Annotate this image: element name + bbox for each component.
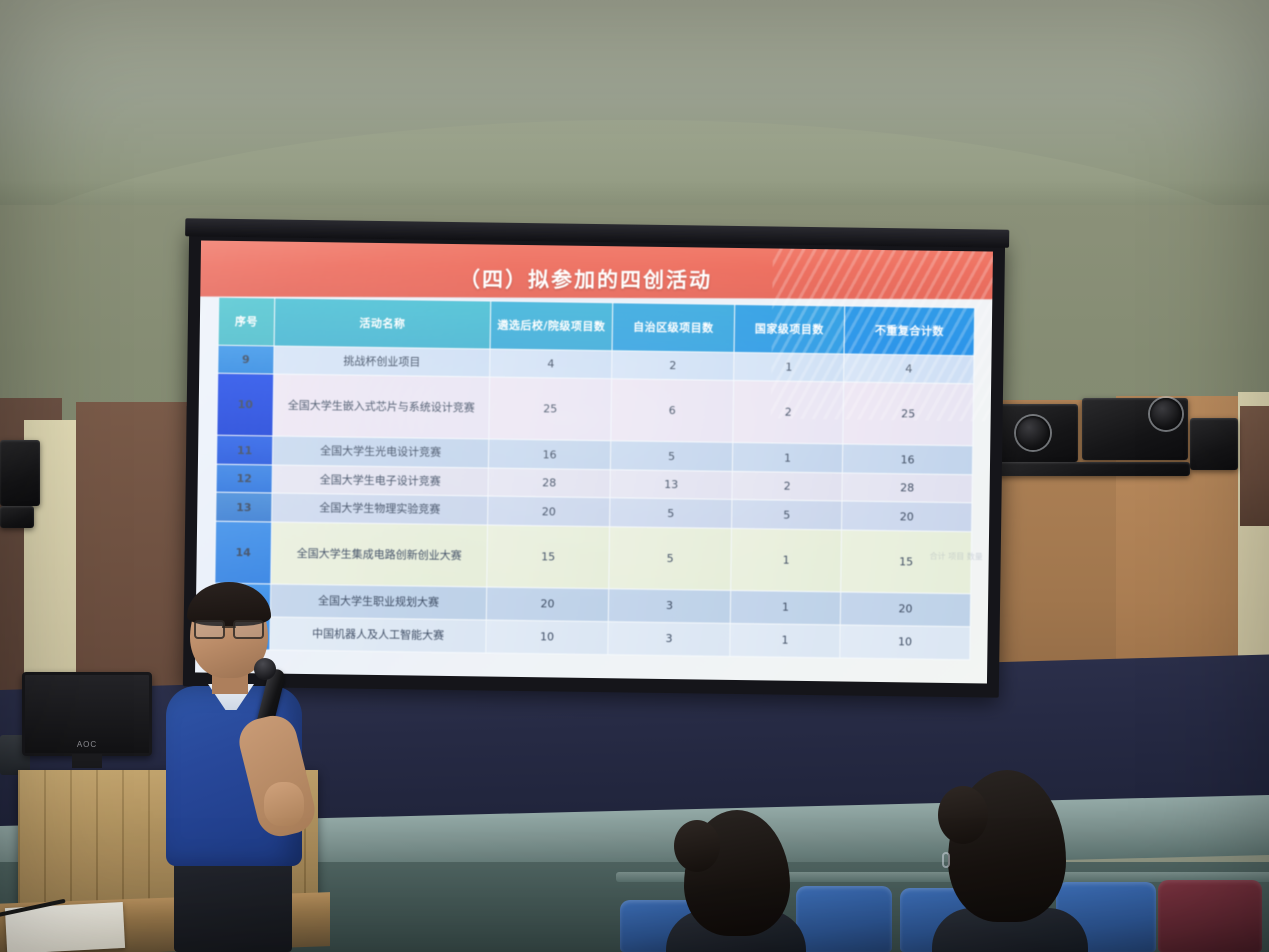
presenter <box>160 586 330 952</box>
cell-index: 11 <box>216 436 272 465</box>
cell-total: 20 <box>840 592 970 627</box>
monitor-stand <box>72 754 102 768</box>
cell-name: 全国大学生光电设计竞赛 <box>272 436 488 467</box>
cell-total: 20 <box>842 501 972 531</box>
seat-red-1 <box>1158 880 1262 952</box>
cell-national: 2 <box>732 471 842 501</box>
presenter-trousers <box>174 858 292 952</box>
cell-region: 5 <box>610 498 732 528</box>
col-header-name: 活动名称 <box>274 298 491 349</box>
col-header-national: 国家级项目数 <box>734 304 845 354</box>
cell-region: 5 <box>610 441 732 471</box>
wall-panel-right-far <box>1240 406 1269 526</box>
presenter-hand <box>264 782 304 826</box>
cell-school: 25 <box>489 377 612 441</box>
cell-name: 全国大学生集成电路创新创业大赛 <box>271 522 488 587</box>
glasses-icon <box>194 620 264 635</box>
cell-national: 1 <box>734 352 844 382</box>
cell-school: 28 <box>488 468 610 498</box>
speaker-cone-right-a <box>1016 416 1050 450</box>
cell-total: 28 <box>842 473 972 503</box>
cell-school: 15 <box>487 525 610 589</box>
cell-name: 全国大学生物理实验竞赛 <box>272 493 488 524</box>
cell-index: 14 <box>215 521 272 584</box>
cell-region: 3 <box>608 588 730 623</box>
cell-total: 4 <box>844 354 974 384</box>
cell-region: 13 <box>610 470 732 500</box>
col-header-index: 序号 <box>218 297 275 346</box>
speaker-left-lower <box>0 506 34 528</box>
seat-blue-1 <box>796 886 892 952</box>
cell-school: 16 <box>488 439 610 469</box>
speaker-left <box>0 440 40 506</box>
table-row: 10 全国大学生嵌入式芯片与系统设计竞赛 25 6 2 25 <box>217 374 974 447</box>
audience-glasses-icon <box>942 852 950 868</box>
cell-total: 10 <box>840 625 970 660</box>
speaker-right-c <box>1190 418 1238 470</box>
cell-school: 4 <box>490 349 612 379</box>
cell-national: 1 <box>731 528 842 592</box>
cell-national: 1 <box>732 443 842 473</box>
lecture-hall-room: （四）拟参加的四创活动 序号 活动名称 遴选后校/院级项目数 <box>0 0 1269 952</box>
table-row: 14 全国大学生集成电路创新创业大赛 15 5 1 15 <box>215 521 972 594</box>
cell-name: 挑战杯创业项目 <box>274 346 490 377</box>
cell-index: 13 <box>216 493 272 522</box>
audience-hair <box>674 820 720 872</box>
cell-national: 5 <box>732 500 842 530</box>
cell-name: 全国大学生电子设计竞赛 <box>272 465 488 496</box>
audience-hair <box>938 786 988 844</box>
cell-region: 6 <box>611 379 734 443</box>
cell-national: 2 <box>733 381 844 445</box>
cell-total: 15 <box>841 530 972 594</box>
cell-index: 10 <box>217 374 274 437</box>
cell-school: 10 <box>486 620 608 655</box>
cell-school: 20 <box>486 587 608 622</box>
cell-index: 9 <box>218 345 274 374</box>
speaker-cone-right-b <box>1150 398 1182 430</box>
col-header-region: 自治区级项目数 <box>612 303 735 353</box>
monitor-brand-label: AOC <box>77 740 97 749</box>
cell-region: 2 <box>612 351 734 381</box>
ceiling <box>0 0 1269 240</box>
cell-index: 12 <box>216 464 272 493</box>
computer-monitor: AOC <box>22 672 152 756</box>
col-header-school: 遴选后校/院级项目数 <box>490 301 613 351</box>
cell-national: 1 <box>730 623 840 658</box>
cell-region: 3 <box>608 621 730 656</box>
audience-member-left <box>660 806 810 952</box>
cell-national: 1 <box>730 590 840 625</box>
audience-member-right <box>930 766 1090 952</box>
cell-school: 20 <box>488 496 610 526</box>
col-header-total: 不重复合计数 <box>844 306 975 356</box>
cell-total: 25 <box>843 382 974 446</box>
cell-total: 16 <box>842 444 972 474</box>
cell-region: 5 <box>609 526 732 590</box>
speaker-bar-right <box>984 462 1190 476</box>
cell-name: 全国大学生嵌入式芯片与系统设计竞赛 <box>273 374 490 439</box>
slide-title: （四）拟参加的四创活动 <box>200 263 992 296</box>
